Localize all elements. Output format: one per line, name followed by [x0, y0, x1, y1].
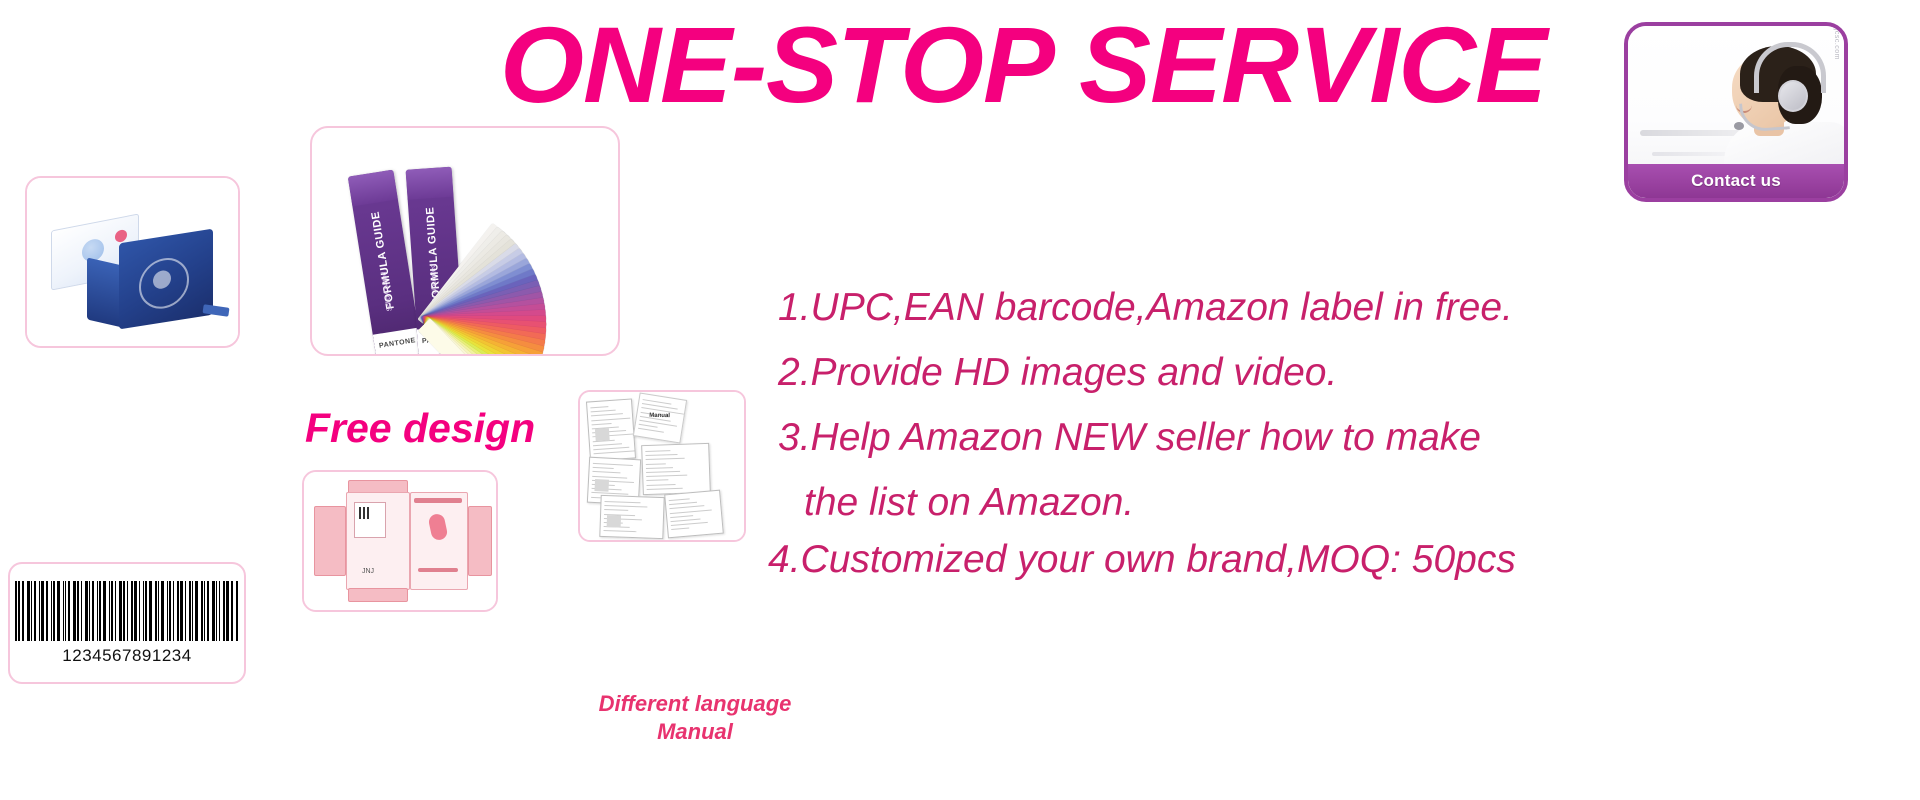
- service-list-item: 3.Help Amazon NEW seller how to make: [778, 418, 1908, 457]
- barcode-bar: [131, 581, 133, 641]
- manual-text-line: [669, 498, 690, 501]
- manual-diagram-block: [595, 428, 610, 441]
- manual-sheet: [641, 443, 711, 495]
- dieline-template-card: JNJ: [302, 470, 498, 612]
- manual-text-line: [646, 475, 687, 477]
- barcode-bar: [31, 581, 32, 641]
- manual-text-line: [671, 528, 689, 531]
- manual-text-line: [591, 417, 630, 421]
- manual-text-line: [592, 471, 620, 473]
- guide-foot-coated: PANTONE: [373, 328, 423, 356]
- barcode-bar: [92, 581, 94, 641]
- dieline-footer-bar: [418, 568, 458, 572]
- barcode-bar: [134, 581, 137, 641]
- barcode-bar: [89, 581, 90, 641]
- manual-text-line: [593, 463, 633, 466]
- barcode-bar: [145, 581, 147, 641]
- barcode-bar: [167, 581, 168, 641]
- barcode-label-card: 1234567891234: [8, 562, 246, 684]
- manual-text-line: [603, 530, 636, 532]
- barcode-bar: [39, 581, 40, 641]
- manual-diagram-block: [594, 479, 609, 492]
- page-title: ONE-STOP SERVICE: [500, 8, 1500, 121]
- manual-text-line: [604, 509, 628, 511]
- contact-us-card[interactable]: www.jcsc.com Contact us: [1624, 22, 1848, 202]
- barcode-bar: [27, 581, 30, 641]
- manual-cover-sheet: Manual: [633, 393, 687, 444]
- barcode-bar: [99, 581, 101, 641]
- barcode-wrapper: 1234567891234: [10, 564, 244, 682]
- manual-caption: Different language Manual: [570, 690, 820, 745]
- barcode-bar: [109, 581, 110, 641]
- dieline-barcode-label: [354, 502, 386, 538]
- manual-text-line: [593, 443, 622, 446]
- service-list: 1.UPC,EAN barcode,Amazon label in free.2…: [778, 288, 1908, 579]
- barcode-bar: [192, 581, 193, 641]
- barcode-bar: [51, 581, 52, 641]
- service-list-item: the list on Amazon.: [804, 483, 1908, 522]
- barcode-bar: [219, 581, 220, 641]
- gift-box-lid-dot: [115, 229, 127, 243]
- barcode-bar: [236, 581, 238, 641]
- barcode-bar: [77, 581, 79, 641]
- barcode-bar: [169, 581, 171, 641]
- manual-caption-line1: Different language: [570, 690, 820, 718]
- gift-box-scene: [27, 178, 238, 346]
- barcode-bar: [231, 581, 233, 641]
- barcode-bar: [73, 581, 76, 641]
- manual-text-line: [590, 406, 608, 408]
- barcode-bar: [195, 581, 198, 641]
- manual-text-line: [638, 428, 664, 433]
- manual-text-line: [645, 450, 670, 452]
- service-list-item: 1.UPC,EAN barcode,Amazon label in free.: [778, 288, 1908, 327]
- barcode-bar: [46, 581, 48, 641]
- barcode-bar: [18, 581, 20, 641]
- manual-photo-card: Manual: [578, 390, 746, 542]
- barcode-bar: [161, 581, 164, 641]
- photo-watermark: www.jcsc.com: [1833, 22, 1840, 60]
- dieline-product-art: [416, 506, 460, 562]
- barcode-bar: [177, 581, 179, 641]
- manual-text-line: [647, 484, 676, 486]
- barcode-bars: [15, 581, 239, 641]
- manual-text-line: [646, 454, 678, 456]
- manual-diagram-block: [607, 515, 621, 527]
- barcode-bar: [207, 581, 209, 641]
- infographic-canvas: ONE-STOP SERVICE www.jcsc.com Contact us: [0, 0, 1920, 800]
- barcode-bar: [127, 581, 128, 641]
- barcode-bar: [115, 581, 116, 641]
- dieline-right-flap: [468, 506, 492, 576]
- manual-text-line: [591, 410, 616, 413]
- manual-text-line: [646, 467, 673, 469]
- manual-text-line: [593, 447, 629, 451]
- barcode-bar: [204, 581, 205, 641]
- barcode-bar: [15, 581, 17, 641]
- barcode-bar: [57, 581, 60, 641]
- barcode-bar: [185, 581, 186, 641]
- manual-scene: Manual: [580, 392, 744, 540]
- barcode-bar: [119, 581, 122, 641]
- barcode-bar: [22, 581, 24, 641]
- barcode-bar: [180, 581, 183, 641]
- dieline-scene: JNJ: [304, 472, 496, 610]
- barcode-bar: [226, 581, 229, 641]
- manual-sheet: [586, 398, 636, 461]
- barcode-bar: [158, 581, 159, 641]
- barcode-bar: [155, 581, 157, 641]
- free-design-label: Free design: [305, 405, 535, 452]
- guide-brand-coated: PANTONE: [374, 336, 421, 350]
- barcode-bar: [216, 581, 217, 641]
- barcode-bar: [53, 581, 55, 641]
- barcode-bar: [97, 581, 98, 641]
- barcode-bar: [34, 581, 36, 641]
- dieline-logo: JNJ: [362, 568, 374, 575]
- manual-text-line: [594, 450, 636, 454]
- dieline-left-flap: [314, 506, 346, 576]
- manual-text-line: [591, 414, 623, 417]
- manual-text-line: [670, 515, 693, 518]
- barcode-bar: [123, 581, 125, 641]
- contact-us-button[interactable]: Contact us: [1628, 164, 1844, 198]
- manual-text-line: [671, 522, 708, 526]
- manual-text-line: [669, 505, 704, 509]
- barcode-bar: [103, 581, 106, 641]
- manual-text-line: [669, 502, 697, 505]
- barcode-bar: [212, 581, 215, 641]
- manual-sheet: [664, 490, 724, 539]
- manual-caption-line2: Manual: [570, 718, 820, 746]
- manual-text-line: [647, 488, 683, 490]
- gift-box-base: [119, 229, 213, 330]
- manual-sheet: [599, 495, 664, 539]
- manual-text-line: [592, 423, 612, 425]
- barcode-bar: [111, 581, 113, 641]
- manual-text-line: [593, 467, 614, 469]
- manual-text-line: [671, 518, 701, 522]
- barcode-bar: [143, 581, 144, 641]
- manual-text-line: [646, 463, 666, 465]
- barcode-bar: [81, 581, 82, 641]
- contact-us-label: Contact us: [1691, 171, 1781, 191]
- service-list-item: 4.Customized your own brand,MOQ: 50pcs: [768, 540, 1908, 579]
- barcode-bar: [139, 581, 140, 641]
- barcode-bar: [63, 581, 64, 641]
- pantone-guide-card: FORMULA GUIDE Solid Coated PANTONE FORMU…: [310, 126, 620, 356]
- barcode-bar: [223, 581, 225, 641]
- dieline-bottom-tab: [348, 588, 408, 602]
- dieline-headline-bar: [414, 498, 462, 503]
- barcode-bar: [149, 581, 152, 641]
- manual-text-line: [646, 480, 668, 482]
- service-list-item: 2.Provide HD images and video.: [778, 353, 1908, 392]
- gift-box-photo-card: [25, 176, 240, 348]
- barcode-bar: [85, 581, 88, 641]
- manual-text-line: [605, 501, 641, 503]
- barcode-bar: [68, 581, 70, 641]
- barcode-bar: [41, 581, 44, 641]
- microphone-tip-icon: [1734, 122, 1744, 130]
- manual-text-line: [639, 424, 658, 428]
- barcode-bar: [173, 581, 174, 641]
- manual-text-line: [646, 471, 680, 473]
- manual-text-line: [670, 509, 712, 514]
- barcode-number: 1234567891234: [62, 646, 191, 666]
- manual-text-line: [646, 458, 685, 460]
- barcode-bar: [189, 581, 191, 641]
- barcode-bar: [65, 581, 66, 641]
- barcode-bar: [201, 581, 203, 641]
- manual-text-line: [604, 505, 647, 508]
